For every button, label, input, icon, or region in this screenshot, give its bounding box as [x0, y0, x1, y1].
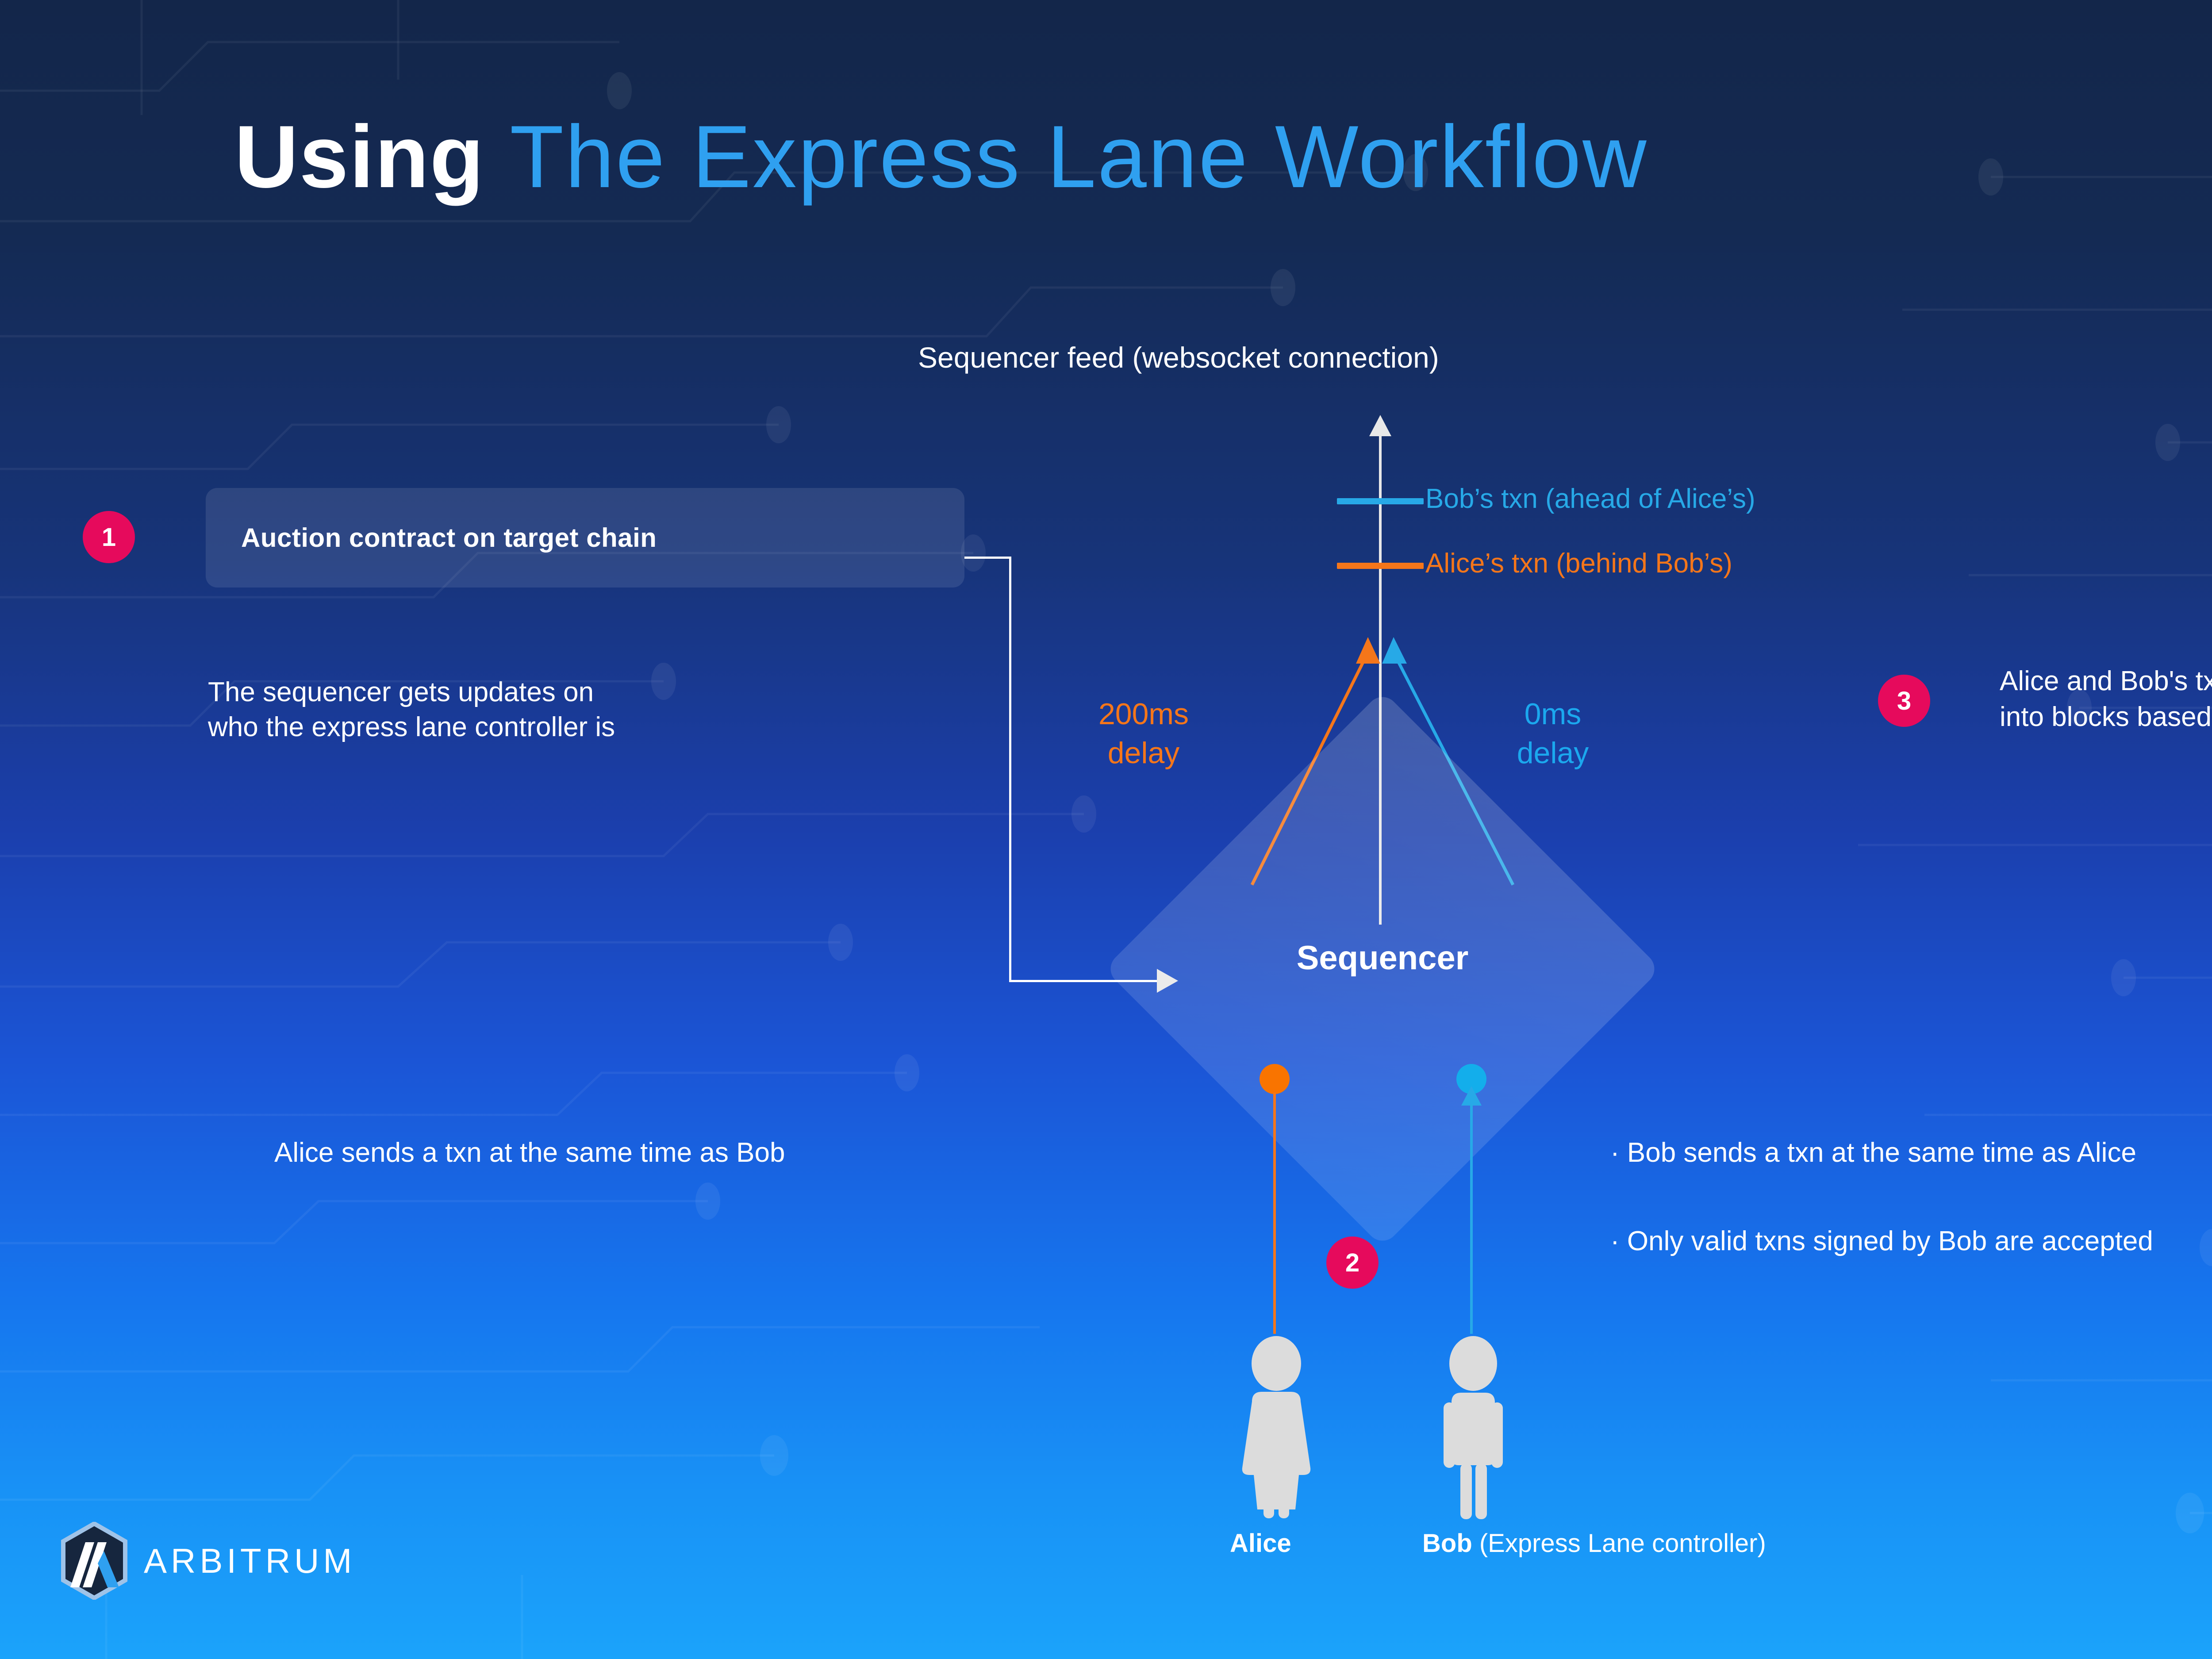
bob-delay-label: 0ms delay [1480, 695, 1626, 773]
alice-delay-label: 200ms delay [1071, 695, 1217, 773]
auction-contract-label: Auction contract on target chain [241, 522, 657, 553]
alice-name-label: Alice [1230, 1528, 1291, 1558]
step3-note: Alice and Bob's txns get ordered into bl… [2000, 664, 2212, 735]
step-badge-1: 1 [83, 511, 135, 563]
alice-txn-tick [1337, 563, 1424, 569]
sequencer-updates-note: The sequencer gets updates on who the ex… [208, 675, 615, 745]
connector-segment-v [1009, 557, 1011, 982]
sequencer-feed-label: Sequencer feed (websocket connection) [918, 341, 1439, 374]
bob-name-text: Bob [1422, 1529, 1472, 1558]
title-light: The Express Lane Workflow [510, 108, 1647, 206]
circuit-background [0, 0, 2212, 1659]
bob-txn-label: Bob’s txn (ahead of Alice’s) [1425, 483, 1755, 515]
bob-name-label: Bob (Express Lane controller) [1422, 1528, 1766, 1558]
bob-valid-txns-note: · Only valid txns signed by Bob are acce… [1610, 1225, 2153, 1257]
arbitrum-logo: ARBITRUM [60, 1522, 356, 1600]
connector-segment-h1 [964, 557, 1011, 559]
slide-canvas: Using The Express Lane Workflow Sequence… [0, 0, 2212, 1659]
alice-avatar-icon [1225, 1336, 1327, 1522]
bob-txn-line [1470, 1093, 1473, 1334]
bob-txn-arrow-head-icon [1461, 1086, 1482, 1106]
auction-contract-box: Auction contract on target chain [206, 488, 964, 588]
sequencer-label: Sequencer [1186, 939, 1579, 977]
bob-txn-tick [1337, 498, 1424, 504]
bob-avatar-icon [1422, 1336, 1524, 1522]
arbitrum-wordmark: ARBITRUM [144, 1541, 356, 1581]
bob-sends-note: · Bob sends a txn at the same time as Al… [1610, 1137, 2136, 1168]
step-badge-3: 3 [1878, 675, 1930, 727]
arbitrum-mark-icon [60, 1522, 129, 1600]
alice-txn-line [1273, 1093, 1276, 1334]
alice-txn-label: Alice’s txn (behind Bob’s) [1425, 548, 1732, 579]
page-title: Using The Express Lane Workflow [234, 113, 1648, 201]
alice-sends-note: Alice sends a txn at the same time as Bo… [274, 1137, 785, 1168]
alice-txn-dot [1260, 1064, 1290, 1094]
bob-role-text: (Express Lane controller) [1472, 1529, 1766, 1558]
step-badge-2: 2 [1326, 1237, 1379, 1289]
title-bold: Using [234, 108, 485, 206]
